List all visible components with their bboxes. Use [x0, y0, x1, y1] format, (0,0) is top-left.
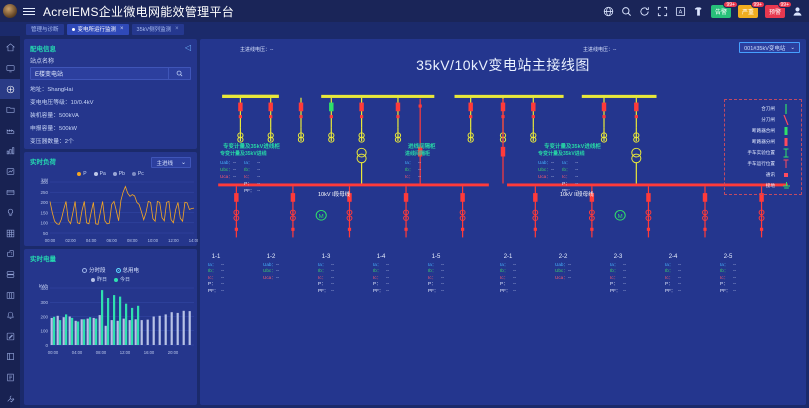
- feeder-row: Ib：--: [373, 268, 389, 275]
- feeder-value: --: [568, 268, 571, 275]
- measurement-title: 专变计量及35kV进线: [538, 151, 585, 158]
- menu-toggle-icon[interactable]: [23, 8, 35, 15]
- feeder-value: --: [513, 275, 516, 282]
- station-search-row: [30, 67, 191, 80]
- feeder-key: Ic：: [208, 275, 219, 282]
- bus10-tag-0: 10kV I段母线: [318, 190, 350, 198]
- feeder-key: P：: [610, 281, 621, 288]
- rail-item-book[interactable]: [0, 347, 20, 367]
- measurement-row: PF：--: [244, 187, 260, 194]
- feeder-row: Ic：--: [318, 275, 334, 282]
- feeder-key: Ib：: [720, 268, 731, 275]
- feeder-key: Ib：: [610, 268, 621, 275]
- feeder-value: --: [276, 268, 279, 275]
- feeder-value: --: [331, 262, 334, 269]
- load-line-selector[interactable]: 主进线 ⌄: [151, 157, 191, 168]
- legend-row-label: 分刀闸: [733, 117, 775, 123]
- feeder-key: Uab：: [555, 262, 566, 269]
- legend-label: 今日: [120, 276, 130, 283]
- station-info-title: 配电信息: [30, 43, 191, 53]
- bay-label-1: 进线间隔柜: [408, 142, 436, 150]
- rail-item-doc[interactable]: [0, 368, 20, 388]
- svg-text:M: M: [319, 214, 324, 220]
- bay-label-0: 专变计量及35kV进线柜: [223, 142, 280, 150]
- book-icon: [6, 352, 15, 361]
- feeder-value: --: [733, 275, 736, 282]
- truck-run-icon: [779, 159, 793, 169]
- measurement-value: --: [551, 173, 554, 180]
- rail-item-alarm[interactable]: [0, 306, 20, 326]
- alarm-icon: [6, 311, 15, 320]
- feeder-key: PF：: [500, 288, 511, 295]
- station-info-4: 变压器数量：2个: [30, 136, 191, 145]
- grid-icon: [6, 229, 15, 238]
- feeder-value: --: [441, 262, 444, 269]
- measurement-value: --: [257, 173, 260, 180]
- measurement-column: Ia：--Ib：--Ic：--P：--PF：--: [244, 159, 260, 194]
- table-icon: [6, 291, 15, 300]
- radio-icon: [116, 268, 121, 273]
- feeder-row: Ia：--: [665, 262, 681, 269]
- feeder-value: --: [441, 268, 444, 275]
- measurement-key: PF：: [244, 187, 255, 194]
- measurement-key: Ib：: [244, 166, 255, 173]
- svg-text:00:00: 00:00: [45, 238, 56, 243]
- feeder-id: 2-2: [555, 254, 571, 261]
- legend-row-label: 合刀闸: [733, 106, 775, 112]
- feeder-key: Ubc：: [263, 268, 274, 275]
- feeder-row: Ia：--: [318, 262, 334, 269]
- measurement-key: Ubc：: [538, 166, 549, 173]
- legend-row-label: 通讯: [733, 172, 775, 178]
- feeder-key: Ia：: [208, 262, 219, 269]
- home-icon: [6, 43, 15, 52]
- measurement-row: P：--: [244, 180, 260, 187]
- measurement-key: Ic：: [244, 173, 255, 180]
- energy-chart-title: 实时电量: [30, 253, 191, 263]
- measurement-value: --: [418, 166, 421, 173]
- measurement-row: Uab：--: [538, 159, 554, 166]
- feeder-row: Ia：--: [373, 262, 389, 269]
- feeder-row: Ic：--: [428, 275, 444, 282]
- measurement-row: Ubc：--: [220, 166, 236, 173]
- feeder-value: --: [441, 288, 444, 295]
- feeder-value: --: [678, 281, 681, 288]
- svg-text:14:00: 14:00: [189, 238, 198, 243]
- user-icon[interactable]: [792, 6, 803, 17]
- knife-open-icon: [779, 115, 793, 125]
- rail-item-edit[interactable]: [0, 327, 20, 347]
- bar-chart-icon: [6, 146, 15, 155]
- feeder-value: --: [568, 262, 571, 269]
- feeder-value: --: [331, 275, 334, 282]
- feeder-id: 1-3: [318, 254, 334, 261]
- feeder-row: Ib：--: [665, 268, 681, 275]
- diagram-svg: MM: [200, 39, 806, 405]
- measurement-value: --: [233, 166, 236, 173]
- feeder-1-4[interactable]: 1-4Ia：--Ib：--Ic：--P：--PF：--: [373, 254, 389, 295]
- energy-icon: [6, 85, 15, 94]
- feeder-key: Ib：: [208, 268, 219, 275]
- measurement-key: Ia：: [244, 159, 255, 166]
- measurement-key: Ib：: [405, 166, 416, 173]
- feeder-value: --: [678, 268, 681, 275]
- feeder-1-2[interactable]: 1-2Uab：--Ubc：--Uca：--: [263, 254, 279, 281]
- legend-row-4: 手车实验位置: [727, 147, 799, 158]
- legend-row-label: 接地: [733, 183, 775, 189]
- feeder-row: Ubc：--: [263, 268, 279, 275]
- app-root: AcrelEMS企业微电网能效管理平台 A 告警 99+ 严重 99+ 预警 9…: [0, 0, 809, 408]
- feeder-row: Ic：--: [610, 275, 626, 282]
- feeder-key: Ia：: [428, 262, 439, 269]
- comm-dot-icon: [779, 172, 793, 178]
- feeder-key: Ic：: [318, 275, 329, 282]
- svg-text:kW: kW: [42, 178, 49, 183]
- alarm-badge-1-count: 99+: [751, 1, 765, 8]
- svg-text:10:00: 10:00: [148, 238, 159, 243]
- measurement-value: --: [575, 180, 578, 187]
- svg-text:M: M: [618, 214, 623, 220]
- svg-text:150: 150: [40, 210, 48, 215]
- measurement-key: Ic：: [405, 173, 416, 180]
- feeder-1-1[interactable]: 1-1Ia：--Ib：--Ic：--P：--PF：--: [208, 254, 224, 295]
- breaker-open-icon: [779, 137, 793, 147]
- card-icon: [6, 188, 15, 197]
- measurement-key: Ib：: [562, 166, 573, 173]
- feeder-row: Ubc：--: [555, 268, 571, 275]
- feeder-key: Ib：: [665, 268, 676, 275]
- feeder-row: P：--: [500, 281, 516, 288]
- alarm-badge-2-count: 99+: [778, 1, 792, 8]
- feeder-value: --: [221, 288, 224, 295]
- rail-item-monitor[interactable]: [0, 59, 20, 79]
- svg-text:A: A: [679, 9, 683, 15]
- feeder-key: Ia：: [665, 262, 676, 269]
- alarm-badge-1[interactable]: 严重 99+: [738, 5, 758, 18]
- measurement-value: --: [575, 187, 578, 194]
- feeder-key: Uca：: [263, 275, 274, 282]
- legend-row-1: 分刀闸: [727, 114, 799, 125]
- legend-label: Pb: [119, 171, 125, 177]
- svg-text:50: 50: [43, 231, 49, 236]
- measurement-key: Ia：: [562, 159, 573, 166]
- svg-text:04:00: 04:00: [86, 238, 97, 243]
- legend-row-label: 手车运行位置: [733, 161, 775, 167]
- rail-item-table[interactable]: [0, 285, 20, 305]
- svg-text:06:00: 06:00: [106, 238, 117, 243]
- load-legend-item-1[interactable]: Pa: [94, 171, 106, 177]
- rail-item-factory[interactable]: [0, 120, 20, 140]
- tab-0[interactable]: 管理与诊断: [26, 24, 64, 35]
- feeder-value: --: [623, 268, 626, 275]
- feeder-key: Ia：: [373, 262, 384, 269]
- feeder-key: Ic：: [610, 275, 621, 282]
- measurement-row: Ia：--: [244, 159, 260, 166]
- tools-icon: [6, 394, 15, 403]
- load-chart-canvas: 5010015020025030000:0002:0004:0006:0008:…: [30, 178, 191, 244]
- refresh-icon[interactable]: [639, 6, 650, 17]
- feeder-row: Ib：--: [428, 268, 444, 275]
- feeder-key: Ib：: [373, 268, 384, 275]
- feeder-value: --: [513, 281, 516, 288]
- alarm-badge-0-label: 告警: [715, 7, 727, 16]
- measurement-key: Uab：: [538, 159, 549, 166]
- tab-1-close-icon[interactable]: ×: [120, 26, 124, 32]
- measurement-row: Ic：--: [562, 173, 578, 180]
- legend-row-6: 通讯: [727, 169, 799, 180]
- left-nav-rail: [0, 36, 20, 408]
- feeder-1-3[interactable]: 1-3Ia：--Ib：--Ic：--P：--PF：--: [318, 254, 334, 295]
- search-icon[interactable]: [621, 6, 632, 17]
- server-icon: [6, 270, 15, 279]
- alarm-badge-0[interactable]: 告警 99+: [711, 5, 731, 18]
- feeder-2-1[interactable]: 2-1Ia：--Ib：--Ic：--P：--PF：--: [500, 254, 516, 295]
- feeder-id: 1-5: [428, 254, 444, 261]
- feeder-1-5[interactable]: 1-5Ia：--Ib：--Ic：--P：--PF：--: [428, 254, 444, 295]
- load-chart-legend: PPaPbPc: [30, 171, 191, 177]
- feeder-id: 2-4: [665, 254, 681, 261]
- station-info-3: 申报容量：500kW: [30, 123, 191, 132]
- feeder-row: P：--: [610, 281, 626, 288]
- feeder-row: Ic：--: [373, 275, 389, 282]
- feeder-value: --: [221, 281, 224, 288]
- measurement-value: --: [257, 159, 260, 166]
- svg-text:20:00: 20:00: [168, 350, 179, 355]
- rail-item-bulb[interactable]: [0, 203, 20, 223]
- feeder-value: --: [733, 268, 736, 275]
- feeder-value: --: [276, 275, 279, 282]
- measurement-row: Ib：--: [562, 166, 578, 173]
- legend-label: Pa: [100, 171, 106, 177]
- feeder-key: Ib：: [318, 268, 329, 275]
- feeder-value: --: [221, 262, 224, 269]
- feeder-row: PF：--: [500, 288, 516, 295]
- feeder-value: --: [221, 275, 224, 282]
- feeder-value: --: [678, 262, 681, 269]
- feeder-2-2[interactable]: 2-2Uab：--Ubc：--Uca：--: [555, 254, 571, 281]
- feeder-value: --: [623, 275, 626, 282]
- rail-item-folder[interactable]: [0, 100, 20, 120]
- feeder-id: 2-3: [610, 254, 626, 261]
- measurement-value: --: [257, 187, 260, 194]
- feeder-id: 1-2: [263, 254, 279, 261]
- load-chart-title: 实时负荷: [30, 156, 56, 166]
- feeder-key: PF：: [428, 288, 439, 295]
- tab-2[interactable]: 35kV侧列监测 ×: [132, 24, 184, 35]
- feeder-key: Ic：: [665, 275, 676, 282]
- measurement-value: --: [575, 173, 578, 180]
- station-search-input[interactable]: [30, 67, 169, 80]
- legend-swatch: [94, 172, 98, 176]
- avatar[interactable]: [3, 4, 17, 18]
- feeder-id: 1-1: [208, 254, 224, 261]
- feeder-row: PF：--: [428, 288, 444, 295]
- bus-tag-0: 主进线电压：--: [240, 46, 273, 53]
- feeder-key: Ia：: [500, 262, 511, 269]
- feeder-key: Uca：: [555, 275, 566, 282]
- alarm-badge-2[interactable]: 预警 99+: [765, 5, 785, 18]
- feeder-value: --: [331, 288, 334, 295]
- expand-icon[interactable]: ◁: [185, 43, 191, 52]
- measurement-column: Ia：--Ib：--Ic：--P：--PF：--: [562, 159, 578, 194]
- feeder-value: --: [331, 281, 334, 288]
- rail-item-device[interactable]: [0, 244, 20, 264]
- feeder-value: --: [733, 281, 736, 288]
- rail-item-grid[interactable]: [0, 223, 20, 243]
- fullscreen-icon[interactable]: [657, 6, 668, 17]
- feeder-row: Ic：--: [500, 275, 516, 282]
- feeder-row: Ia：--: [500, 262, 516, 269]
- radio-icon: [82, 268, 87, 273]
- feeder-key: PF：: [318, 288, 329, 295]
- feeder-key: Ia：: [318, 262, 329, 269]
- legend-swatch: [113, 172, 117, 176]
- bay-label-2: 专变计量及35kV进线柜: [544, 142, 601, 150]
- feeder-row: P：--: [665, 281, 681, 288]
- feeder-key: P：: [428, 281, 439, 288]
- feeder-value: --: [513, 268, 516, 275]
- bulb-icon: [6, 208, 15, 217]
- feeder-2-3[interactable]: 2-3Ia：--Ib：--Ic：--P：--PF：--: [610, 254, 626, 295]
- measurement-row: Ia：--: [562, 159, 578, 166]
- feeder-row: Ic：--: [665, 275, 681, 282]
- rail-item-bar-chart[interactable]: [0, 141, 20, 161]
- rail-item-card[interactable]: [0, 182, 20, 202]
- svg-text:200: 200: [40, 314, 48, 319]
- legend-label: 昨日: [97, 276, 107, 283]
- feeder-id: 2-1: [500, 254, 516, 261]
- single-line-diagram: 001#35kV变电站 ⌄ 35kV/10kV变电站主接线图 MM 主进线电压：…: [200, 39, 806, 405]
- feeder-value: --: [441, 275, 444, 282]
- report-icon: [6, 167, 15, 176]
- theme-icon[interactable]: [693, 6, 704, 17]
- energy-legend-item-0[interactable]: 昨日: [91, 276, 107, 283]
- rail-item-report[interactable]: [0, 162, 20, 182]
- svg-text:16:00: 16:00: [144, 350, 155, 355]
- measurement-column: Uab：--Ubc：--Uca：--: [220, 159, 236, 194]
- alarm-badge-2-label: 预警: [769, 7, 781, 16]
- measurement-title: 进线间隔柜: [405, 151, 430, 158]
- bus-tag-1: 主进线电压：--: [583, 46, 616, 53]
- feeder-row: Ia：--: [720, 262, 736, 269]
- feeder-key: Ib：: [500, 268, 511, 275]
- energy-chart-options: 分时段总用电: [30, 266, 191, 274]
- tab-2-close-icon[interactable]: ×: [175, 26, 179, 32]
- translate-icon[interactable]: A: [675, 6, 686, 17]
- tab-1-label: 变电所运行监测: [78, 25, 117, 33]
- feeder-key: PF：: [610, 288, 621, 295]
- feeder-row: Ib：--: [720, 268, 736, 275]
- main-area: 001#35kV变电站 ⌄ 35kV/10kV变电站主接线图 MM 主进线电压：…: [200, 36, 809, 408]
- energy-chart-canvas: 010020030040000:0004:0008:0012:0016:0020…: [30, 284, 191, 356]
- svg-text:100: 100: [40, 329, 48, 334]
- measurement-key: Uca：: [538, 173, 549, 180]
- measurement-value: --: [257, 180, 260, 187]
- legend-label: P: [83, 171, 86, 177]
- feeder-row: PF：--: [665, 288, 681, 295]
- measurement-value: --: [551, 159, 554, 166]
- feeder-row: PF：--: [373, 288, 389, 295]
- energy-option-0[interactable]: 分时段: [82, 266, 106, 274]
- feeder-id: 1-4: [373, 254, 389, 261]
- feeder-row: P：--: [720, 281, 736, 288]
- feeder-row: Ib：--: [318, 268, 334, 275]
- folder-icon: [6, 105, 15, 114]
- measurement-key: Ia：: [405, 159, 416, 166]
- feeder-row: Uab：--: [263, 262, 279, 269]
- feeder-key: Ubc：: [555, 268, 566, 275]
- feeder-2-5[interactable]: 2-5Ia：--Ib：--Ic：--P：--PF：--: [720, 254, 736, 295]
- measurement-column: Uab：--Ubc：--Uca：--: [538, 159, 554, 194]
- load-legend-item-0[interactable]: P: [77, 171, 86, 177]
- feeder-value: --: [623, 288, 626, 295]
- load-legend-item-2[interactable]: Pb: [113, 171, 125, 177]
- feeder-key: Ic：: [720, 275, 731, 282]
- feeder-row: Ia：--: [428, 262, 444, 269]
- measurement-box-0: 专变计量及35kV进线Uab：--Ubc：--Uca：--Ia：--Ib：--I…: [220, 151, 267, 194]
- feeder-key: Ia：: [720, 262, 731, 269]
- feeder-row: PF：--: [208, 288, 224, 295]
- energy-option-1[interactable]: 总用电: [116, 266, 140, 274]
- measurement-row: Uab：--: [220, 159, 236, 166]
- measurement-key: PF：: [562, 187, 573, 194]
- station-search-button[interactable]: [169, 67, 191, 80]
- feeder-key: PF：: [720, 288, 731, 295]
- rail-item-energy[interactable]: [0, 79, 20, 99]
- feeder-row: Ia：--: [610, 262, 626, 269]
- feeder-value: --: [678, 275, 681, 282]
- feeder-key: PF：: [373, 288, 384, 295]
- globe-icon[interactable]: [603, 6, 614, 17]
- energy-legend-item-1[interactable]: 今日: [114, 276, 130, 283]
- feeder-value: --: [331, 268, 334, 275]
- measurement-title: 专变计量及35kV进线: [220, 151, 267, 158]
- feeder-id: 2-5: [720, 254, 736, 261]
- legend-row-label: 手车实验位置: [733, 150, 775, 156]
- knife-closed-icon: [779, 104, 793, 114]
- rail-item-server[interactable]: [0, 265, 20, 285]
- feeder-key: P：: [665, 281, 676, 288]
- legend-row-label: 断路器合闸: [733, 128, 775, 134]
- load-chart-panel: 实时负荷 主进线 ⌄ PPaPbPc 5010015020025030000:0…: [24, 152, 197, 246]
- rail-item-home[interactable]: [0, 38, 20, 58]
- measurement-value: --: [257, 166, 260, 173]
- feeder-key: Ic：: [373, 275, 384, 282]
- feeder-row: Uca：--: [555, 275, 571, 282]
- feeder-key: P：: [318, 281, 329, 288]
- feeder-value: --: [678, 288, 681, 295]
- load-chart-header: 实时负荷 主进线 ⌄: [30, 156, 191, 169]
- svg-text:12:00: 12:00: [120, 350, 131, 355]
- svg-text:kWh: kWh: [39, 284, 48, 289]
- svg-text:300: 300: [40, 300, 48, 305]
- load-legend-item-3[interactable]: Pc: [132, 171, 144, 177]
- feeder-row: PF：--: [318, 288, 334, 295]
- svg-text:08:00: 08:00: [96, 350, 107, 355]
- alarm-badge-0-count: 99+: [723, 1, 737, 8]
- tab-1[interactable]: 变电所运行监测 ×: [67, 24, 129, 35]
- feeder-key: Ic：: [500, 275, 511, 282]
- rail-item-tools[interactable]: [0, 388, 20, 408]
- load-line-selector-value: 主进线: [156, 159, 173, 167]
- left-panel-column: 配电信息 ◁ 站点名称 地址：ShangHai 变电电压等级：10/0.4kV …: [20, 36, 200, 408]
- feeder-2-4[interactable]: 2-4Ia：--Ib：--Ic：--P：--PF：--: [665, 254, 681, 295]
- measurement-value: --: [575, 159, 578, 166]
- tab-strip: 管理与诊断 变电所运行监测 × 35kV侧列监测 ×: [0, 22, 809, 36]
- legend-swatch: [114, 278, 118, 282]
- svg-text:04:00: 04:00: [72, 350, 83, 355]
- feeder-value: --: [623, 262, 626, 269]
